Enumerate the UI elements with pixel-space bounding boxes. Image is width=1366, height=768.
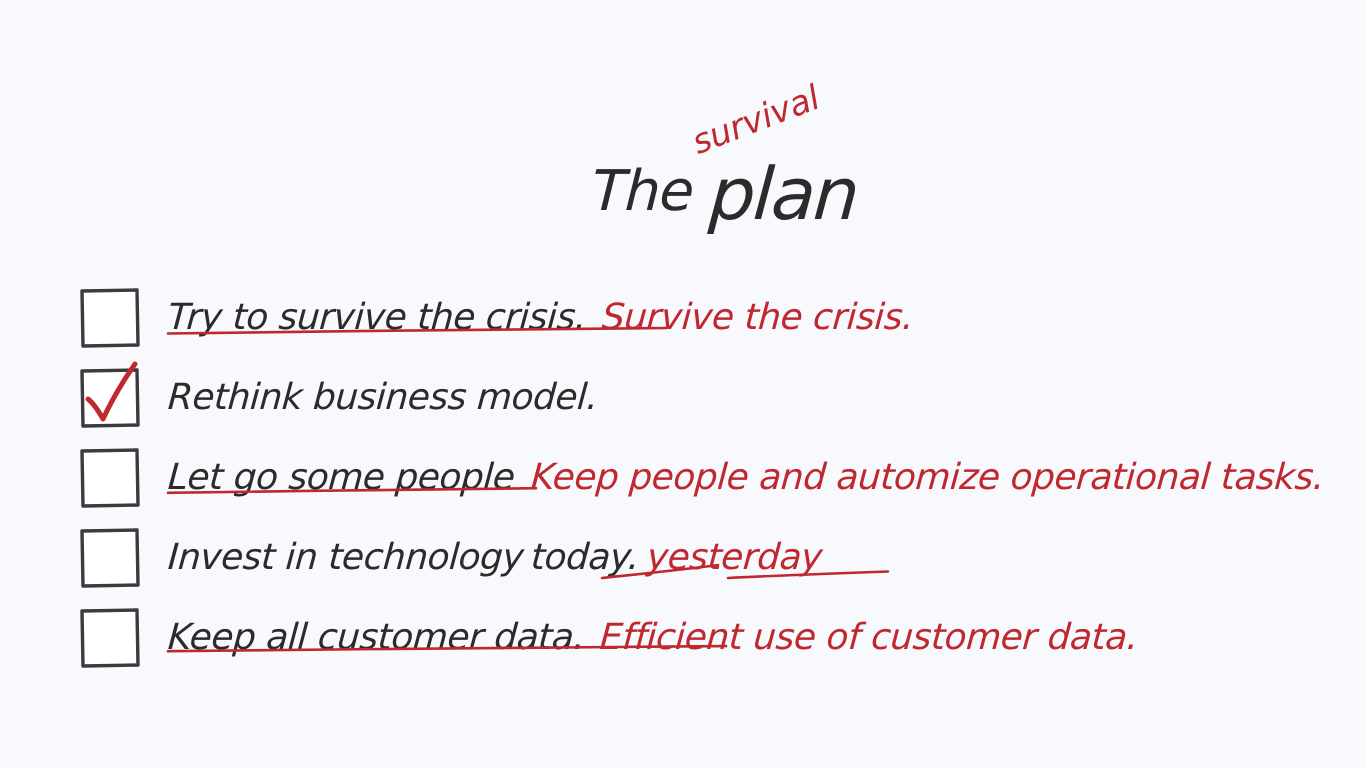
checklist-item: Keep all customer data. Efficient use of… [0,598,1366,678]
checkbox-3[interactable] [80,448,140,508]
checklist-item-text: Let go some people Keep people and autom… [168,448,1324,508]
checklist: Try to survive the crisis. Survive the c… [0,278,1366,678]
item-original-text: Keep all customer data. [167,620,586,656]
item-original-text: Rethink business model. [167,380,599,416]
title-word-plan: plan [707,158,860,230]
item-revision-text: Efficient use of customer data. [599,620,1139,656]
checkbox-4[interactable] [80,528,140,588]
checklist-item: Try to survive the crisis. Survive the c… [0,278,1366,358]
checklist-item-text: Rethink business model. [168,368,598,428]
item-revision-text: Keep people and automize operational tas… [529,460,1324,496]
item-original-text: Let go some people [167,460,516,496]
item-revision-text: yesterday [646,540,824,576]
item-struck-tail-text: today. [530,540,641,576]
checkbox-2[interactable] [80,368,140,428]
checklist-item: Invest in technology today. yesterday [0,518,1366,598]
checklist-item: Rethink business model. [0,358,1366,438]
item-revision-text: Survive the crisis. [601,300,915,336]
item-original-text: Invest in technology [167,540,525,576]
page-title: The plan survival [0,100,1366,250]
checklist-item-text: Keep all customer data. Efficient use of… [168,608,1138,668]
item-original-text: Try to survive the crisis. [167,300,588,336]
title-annotation-survival: survival [688,81,825,160]
checkbox-5[interactable] [80,608,140,668]
title-word-the: The [591,164,695,220]
slide-canvas: The plan survival Try to survive the cri… [0,0,1366,768]
checkbox-1[interactable] [80,288,140,348]
checklist-item-text: Try to survive the crisis. Survive the c… [168,288,913,348]
checklist-item: Let go some people Keep people and autom… [0,438,1366,518]
checklist-item-text: Invest in technology today. yesterday [168,528,822,588]
